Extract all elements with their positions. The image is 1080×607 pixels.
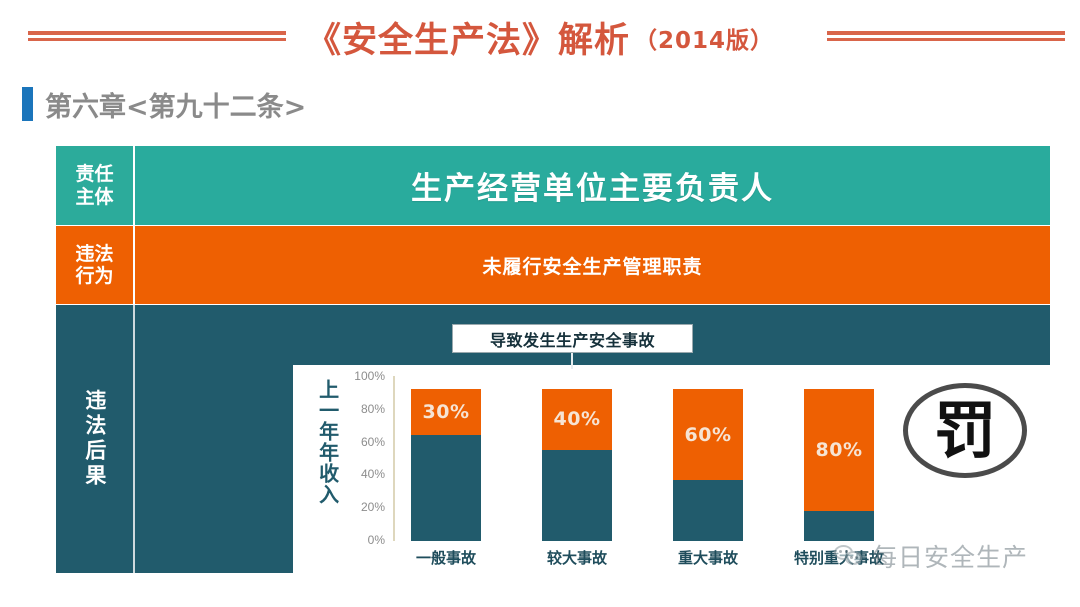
penalty-stamp: 罚 xyxy=(903,383,1027,478)
chart-category-label: 特别重大事故 xyxy=(794,547,884,568)
slide-canvas: 《安全生产法》解析（2014版） 第六章<第九十二条> 责任 主体 生产经营单位… xyxy=(0,0,1080,607)
stamp-character: 罚 xyxy=(903,383,1027,478)
row-label-subject-line2: 主体 xyxy=(75,186,113,208)
page-title-version: （2014版） xyxy=(634,28,774,54)
chart-bar-segment-penalty: 80% xyxy=(804,389,874,511)
row-label-violation-line1: 违法 xyxy=(75,243,113,265)
chapter-heading: 第六章<第九十二条> xyxy=(22,85,306,123)
chart-y-tick: 100% xyxy=(354,369,385,383)
chart-bar: 40% xyxy=(542,389,612,541)
chapter-heading-label: 第六章<第九十二条> xyxy=(45,85,306,124)
chart-bar: 60% xyxy=(673,389,743,541)
violation-text: 未履行安全生产管理职责 xyxy=(482,252,702,279)
callout-stem xyxy=(571,351,573,369)
callout-box: 导致发生生产安全事故 xyxy=(452,324,693,353)
row-label-violation: 违法 行为 xyxy=(56,226,135,304)
chart-bar: 30% xyxy=(411,389,481,541)
subject-text: 生产经营单位主要负责人 xyxy=(411,163,774,208)
chart-y-tick: 40% xyxy=(361,467,385,481)
chapter-accent-bar xyxy=(22,87,33,121)
chart-y-tick: 80% xyxy=(361,402,385,416)
chart-bar-value-label: 30% xyxy=(423,401,470,423)
table-row-consequence: 违法后果 导致发生生产安全事故 上一年年收入 100%80%60%40%20%0… xyxy=(56,305,1050,573)
chart-y-tick: 60% xyxy=(361,435,385,449)
chart-panel: 上一年年收入 100%80%60%40%20%0% 30%一般事故40%较大事故… xyxy=(293,365,1080,573)
row-label-violation-line2: 行为 xyxy=(75,265,113,287)
chart-category-label: 一般事故 xyxy=(416,547,476,568)
chart-y-axis-line xyxy=(393,376,395,541)
chart-bar-group: 30%一般事故 xyxy=(411,389,481,541)
chart-bar-group: 40%较大事故 xyxy=(542,389,612,541)
chart-bar-value-label: 40% xyxy=(554,408,601,430)
row-body-consequence: 导致发生生产安全事故 上一年年收入 100%80%60%40%20%0% 30%… xyxy=(135,305,1050,573)
chart-bar-value-label: 80% xyxy=(816,439,863,461)
table-row-subject: 责任 主体 生产经营单位主要负责人 xyxy=(56,146,1050,225)
chart-bar-segment-penalty: 30% xyxy=(411,389,481,435)
chart-bar-group: 60%重大事故 xyxy=(673,389,743,541)
chart-category-label: 较大事故 xyxy=(547,547,607,568)
chart-bar-segment-penalty: 40% xyxy=(542,389,612,450)
table-row-violation: 违法 行为 未履行安全生产管理职责 xyxy=(56,226,1050,304)
law-breakdown-table: 责任 主体 生产经营单位主要负责人 违法 行为 未履行安全生产管理职责 违法后果 xyxy=(56,146,1050,573)
row-label-consequence: 违法后果 xyxy=(56,305,135,573)
chart-y-tick: 20% xyxy=(361,500,385,514)
row-body-subject: 生产经营单位主要负责人 xyxy=(135,146,1050,225)
title-band: 《安全生产法》解析（2014版） xyxy=(0,0,1080,74)
callout-text: 导致发生生产安全事故 xyxy=(490,327,655,351)
page-title-main: 《安全生产法》解析 xyxy=(306,21,630,61)
page-title: 《安全生产法》解析（2014版） xyxy=(0,12,1080,63)
chart-y-tick: 0% xyxy=(368,533,385,547)
row-label-subject-line1: 责任 xyxy=(75,163,113,185)
chart-y-tick-labels: 100%80%60%40%20%0% xyxy=(337,376,385,540)
chart-bar: 80% xyxy=(804,389,874,541)
row-label-subject: 责任 主体 xyxy=(56,146,135,225)
row-body-violation: 未履行安全生产管理职责 xyxy=(135,226,1050,304)
chart-bar-group: 80%特别重大事故 xyxy=(804,389,874,541)
chart-category-label: 重大事故 xyxy=(678,547,738,568)
chart-bar-segment-penalty: 60% xyxy=(673,389,743,480)
chart-bar-value-label: 60% xyxy=(685,424,732,446)
